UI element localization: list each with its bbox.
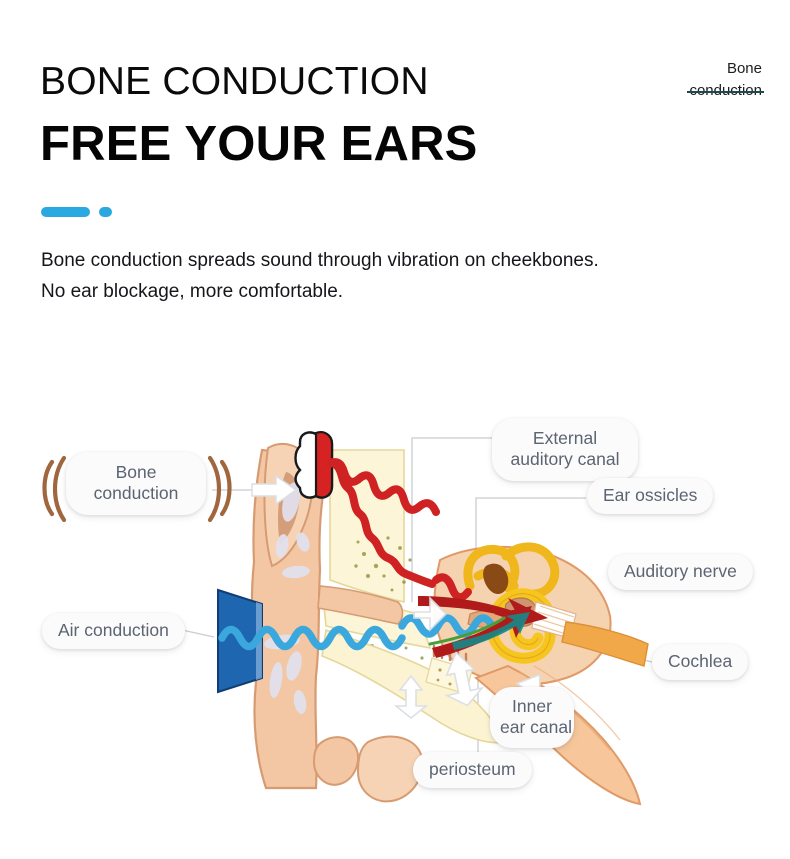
label-periosteum[interactable]: periosteum (413, 752, 532, 788)
label-bone-conduction-line2: conduction (94, 483, 179, 503)
label-bone-conduction-line1: Bone (116, 462, 157, 482)
label-air-conduction-text: Air conduction (58, 620, 169, 640)
corner-note: Bone conduction (689, 58, 762, 102)
label-inner-ear-canal-line2: ear canal (500, 717, 572, 737)
label-external-canal-line1: External (533, 428, 597, 448)
label-external-canal-line2: auditory canal (511, 449, 620, 469)
poster-page: Bone conduction BONE CONDUCTION FREE YOU… (0, 0, 790, 859)
label-inner-ear-canal-line1: Inner (512, 696, 552, 716)
label-air-conduction[interactable]: Air conduction (42, 613, 185, 649)
corner-note-line1: Bone (689, 58, 762, 80)
label-bone-conduction[interactable]: Bone conduction (66, 452, 206, 515)
page-title-secondary: FREE YOUR EARS (40, 120, 478, 169)
corner-note-line2: conduction (689, 80, 762, 102)
label-ear-ossicles-text: Ear ossicles (603, 485, 697, 505)
label-auditory-nerve-text: Auditory nerve (624, 561, 737, 581)
accent-divider (41, 207, 112, 217)
accent-bar (41, 207, 90, 217)
subtitle-line1: Bone conduction spreads sound through vi… (41, 246, 741, 277)
label-auditory-nerve[interactable]: Auditory nerve (608, 554, 753, 590)
bone-fragment-left (314, 737, 358, 785)
page-title-primary: BONE CONDUCTION (40, 62, 429, 101)
label-cochlea-text: Cochlea (668, 651, 732, 671)
label-ear-ossicles[interactable]: Ear ossicles (587, 478, 713, 514)
sound-wave-arcs-right (210, 458, 230, 520)
accent-dot (99, 207, 112, 217)
label-inner-ear-canal[interactable]: Inner ear canal (490, 687, 574, 748)
label-periosteum-text: periosteum (429, 759, 516, 779)
page-subtitle: Bone conduction spreads sound through vi… (41, 246, 741, 308)
label-cochlea[interactable]: Cochlea (652, 644, 748, 680)
ear-anatomy-diagram: Bone conduction Air conduction External … (0, 390, 790, 820)
label-external-auditory-canal[interactable]: External auditory canal (492, 418, 638, 481)
sound-wave-arcs-left (45, 458, 65, 520)
subtitle-line2: No ear blockage, more comfortable. (41, 277, 741, 308)
